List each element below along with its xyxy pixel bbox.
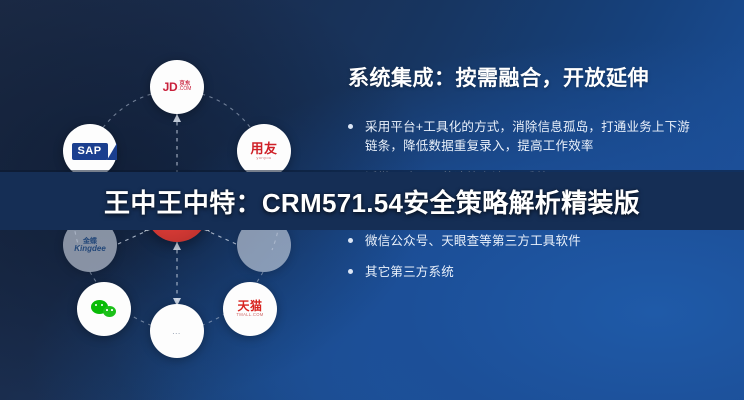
diagram-node-more[interactable]: … — [150, 304, 204, 358]
diagram-node-tmall[interactable]: 天猫 TMALL.COM — [223, 282, 277, 336]
kingdee-logo: 金蝶 Kingdee — [74, 238, 106, 253]
bullet-text: 其它第三方系统 — [365, 263, 454, 282]
overlay-title: 王中王中特：CRM571.54安全策略解析精装版 — [0, 172, 744, 230]
bullet-item: 其它第三方系统 — [348, 263, 724, 282]
more-ellipsis-label: … — [172, 327, 183, 336]
yonyou-logo: 用友 yonyou — [250, 142, 277, 160]
bullet-item: 采用平台+工具化的方式，消除信息孤岛，打通业务上下游链条，降低数据重复录入，提高… — [348, 118, 724, 157]
slide-canvas: JD 京东.COM SAP 用友 yonyou 金蝶 Kingdee — [0, 0, 744, 400]
sap-logo: SAP — [72, 143, 107, 160]
wechat-icon — [91, 300, 117, 318]
tmall-logo-label: 天猫 — [236, 300, 263, 312]
yonyou-logo-label: 用友 — [250, 142, 277, 155]
bullet-dot-icon — [348, 269, 353, 274]
bullet-item: 微信公众号、天眼查等第三方工具软件 — [348, 232, 724, 251]
diagram-node-wechat[interactable] — [77, 282, 131, 336]
bullet-dot-icon — [348, 124, 353, 129]
bullet-dot-icon — [348, 238, 353, 243]
tmall-logo: 天猫 TMALL.COM — [236, 300, 263, 317]
slide-heading: 系统集成：按需融合，开放延伸 — [348, 62, 724, 92]
bullet-text: 微信公众号、天眼查等第三方工具软件 — [365, 232, 581, 251]
yonyou-logo-sub: yonyou — [250, 156, 277, 160]
tmall-logo-sub: TMALL.COM — [236, 313, 263, 317]
jd-logo-sub: 京东.COM — [178, 82, 191, 93]
diagram-node-jd[interactable]: JD 京东.COM — [150, 60, 204, 114]
jd-logo: JD 京东.COM — [163, 81, 192, 93]
jd-logo-label: JD — [163, 81, 178, 93]
kingdee-logo-sub: Kingdee — [74, 245, 106, 253]
bullet-text: 采用平台+工具化的方式，消除信息孤岛，打通业务上下游链条，降低数据重复录入，提高… — [365, 118, 695, 157]
